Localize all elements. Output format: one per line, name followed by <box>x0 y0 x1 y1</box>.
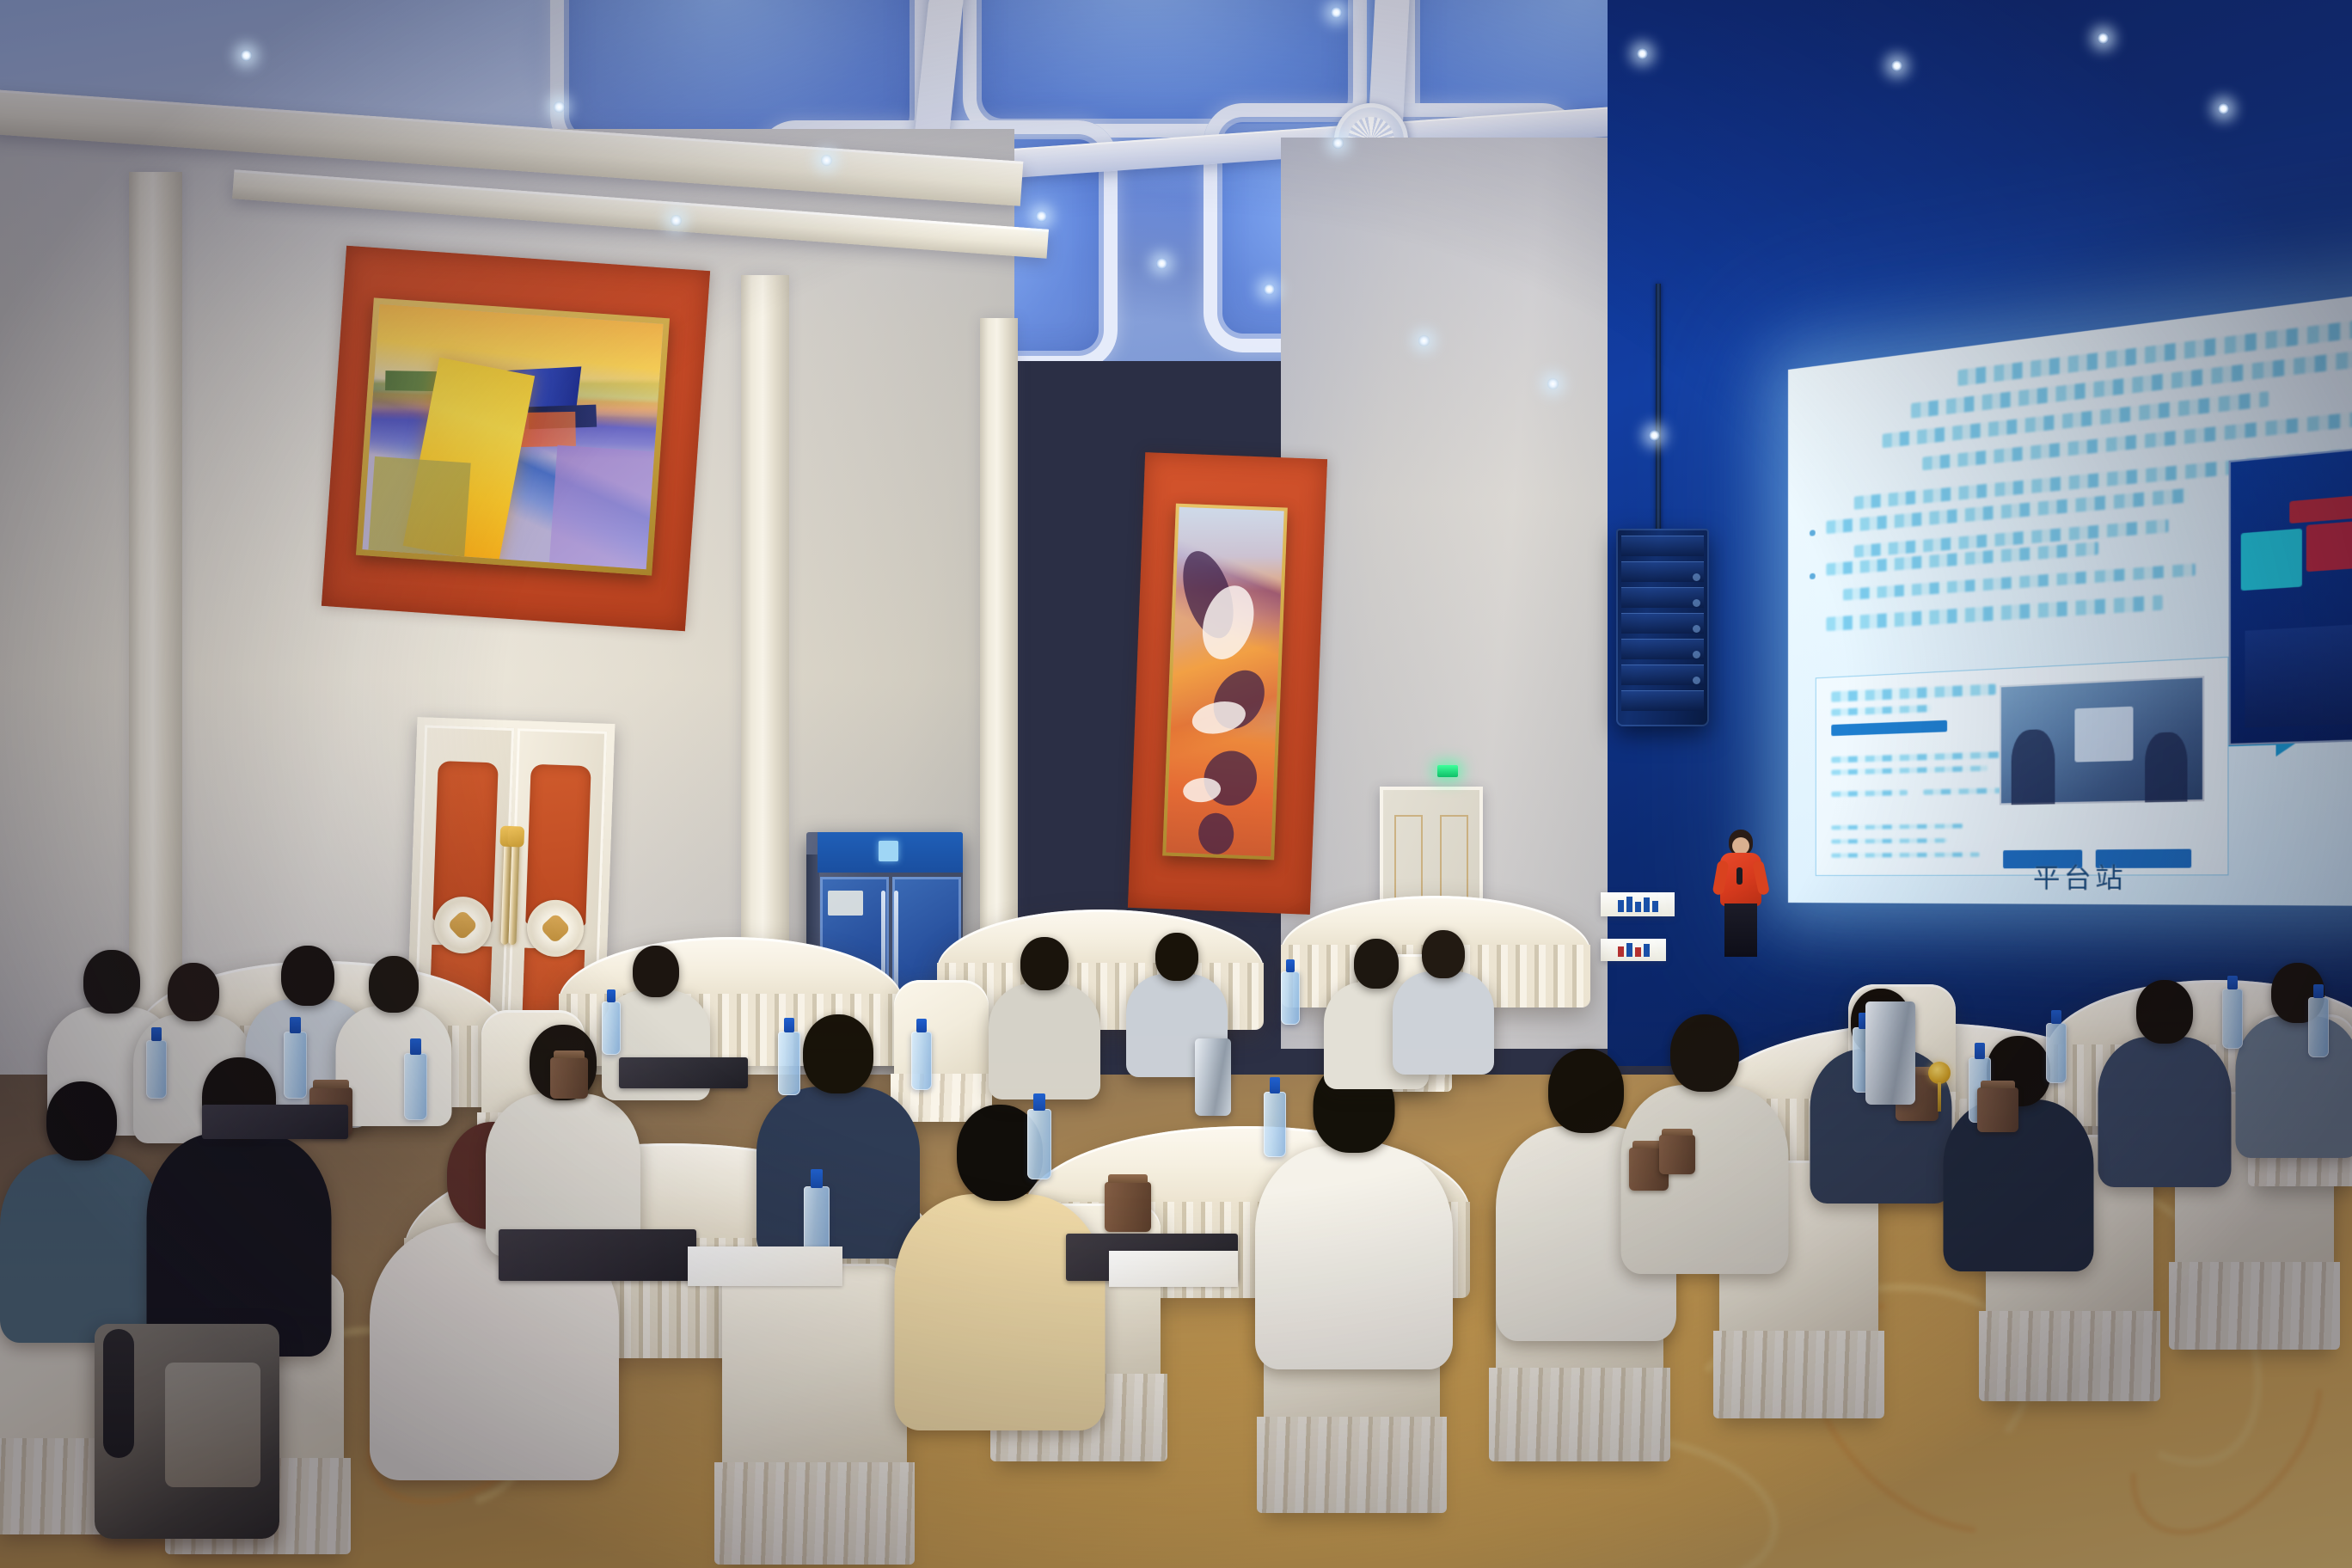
attendee-body <box>335 1006 451 1126</box>
water-bottle <box>404 1053 427 1120</box>
recessed-downlight <box>1649 430 1660 441</box>
water-bottle <box>284 1032 307 1099</box>
recessed-downlight <box>2218 103 2229 114</box>
attendee-head <box>1422 930 1465 978</box>
attendee-head <box>1548 1049 1624 1133</box>
attendee-body <box>1255 1146 1453 1369</box>
slide-meeting-photo <box>2000 676 2205 805</box>
water-bottle <box>2308 997 2329 1057</box>
painting-abstract-vertical <box>1162 504 1288 861</box>
backpack <box>95 1324 279 1539</box>
attendee-head <box>1670 1014 1739 1092</box>
water-bottle <box>602 1001 621 1055</box>
conference-attendee <box>146 1057 331 1363</box>
conference-attendee <box>1393 930 1494 1081</box>
attendee-head <box>168 963 219 1021</box>
water-bottle <box>146 1040 167 1099</box>
fridge-display-panel <box>879 841 899 861</box>
recessed-downlight <box>2098 33 2109 44</box>
recessed-downlight <box>671 215 682 226</box>
water-bottle <box>778 1032 800 1095</box>
line-array-speaker <box>1616 529 1709 726</box>
attendee-body <box>989 983 1100 1099</box>
recessed-downlight <box>1036 211 1047 222</box>
water-bottle <box>2046 1023 2067 1083</box>
presenter <box>1713 830 1768 957</box>
chair-skirt <box>1489 1368 1670 1461</box>
chair-skirt <box>1979 1311 2160 1401</box>
recessed-downlight <box>821 155 832 166</box>
slide-mobile-mockup <box>2228 440 2352 744</box>
water-bottle <box>911 1032 932 1090</box>
recessed-downlight <box>1637 48 1648 59</box>
projection-screen: 平台站 <box>1788 288 2352 906</box>
chair-skirt <box>1257 1417 1447 1513</box>
recessed-downlight <box>1547 378 1559 389</box>
attendee-head <box>46 1081 117 1161</box>
chair-skirt <box>1713 1331 1885 1418</box>
ceramic-teacup <box>1659 1135 1695 1174</box>
attendee-head <box>1155 933 1198 981</box>
banquet-chair[interactable] <box>722 1264 907 1565</box>
handheld-microphone <box>1736 867 1743 885</box>
thermos-flask <box>1195 1038 1231 1116</box>
attendee-head <box>633 946 679 997</box>
water-bottle <box>1281 971 1300 1025</box>
slide-web-mockup <box>1816 656 2229 876</box>
attendee-head <box>1020 937 1069 990</box>
chair-skirt <box>2169 1262 2341 1350</box>
leather-desk-pad <box>499 1229 696 1281</box>
attendee-body <box>146 1133 331 1357</box>
emergency-exit-sign <box>1437 765 1458 777</box>
paper-handout <box>1109 1251 1238 1287</box>
attendee-head <box>803 1014 873 1093</box>
conference-attendee <box>2235 963 2352 1165</box>
recessed-downlight <box>1264 284 1275 295</box>
attendee-body <box>2098 1037 2231 1187</box>
attendee-head <box>281 946 334 1006</box>
ceramic-teacup <box>550 1057 588 1099</box>
ceramic-teacup <box>1977 1087 2018 1132</box>
ceramic-teacup <box>1105 1182 1151 1232</box>
attendee-body <box>2235 1016 2352 1158</box>
conference-attendee <box>989 937 1100 1106</box>
conference-attendee <box>2098 980 2231 1194</box>
painting-abstract-landscape <box>356 297 670 575</box>
conference-hall-photo: 平台站 <box>0 0 2352 1568</box>
leather-desk-pad <box>619 1057 748 1088</box>
table-number-stand <box>1928 1062 1951 1110</box>
wall-sign-lower <box>1601 939 1666 961</box>
attendee-body <box>1393 971 1494 1075</box>
recessed-downlight <box>554 101 565 113</box>
leather-desk-pad <box>202 1105 348 1139</box>
chair-skirt <box>714 1462 914 1565</box>
wall-sign-upper <box>1601 892 1675 916</box>
water-bottle <box>1027 1109 1051 1179</box>
attendee-head <box>2136 980 2193 1044</box>
water-bottle <box>1264 1092 1286 1157</box>
recessed-downlight <box>1331 7 1342 18</box>
recessed-downlight <box>1891 60 1902 71</box>
conference-attendee <box>335 956 451 1133</box>
paper-handout <box>688 1246 842 1286</box>
speaker-mount-pole <box>1656 284 1661 542</box>
conference-attendee <box>1943 1036 2093 1278</box>
attendee-head <box>369 956 419 1013</box>
attendee-head <box>83 950 140 1014</box>
conference-attendee <box>0 1081 163 1350</box>
recessed-downlight <box>241 50 252 61</box>
attendee-body <box>0 1154 163 1343</box>
wall-pilaster <box>129 172 182 1083</box>
recessed-downlight <box>1418 335 1430 346</box>
fridge-notice-label <box>828 891 862 916</box>
water-bottle <box>2222 989 2243 1049</box>
attendee-body <box>894 1194 1105 1430</box>
recessed-downlight <box>1156 258 1167 269</box>
slide-caption: 平台站 <box>1788 855 2352 897</box>
recessed-downlight <box>1332 138 1344 149</box>
thermos-flask <box>1865 1001 1915 1105</box>
